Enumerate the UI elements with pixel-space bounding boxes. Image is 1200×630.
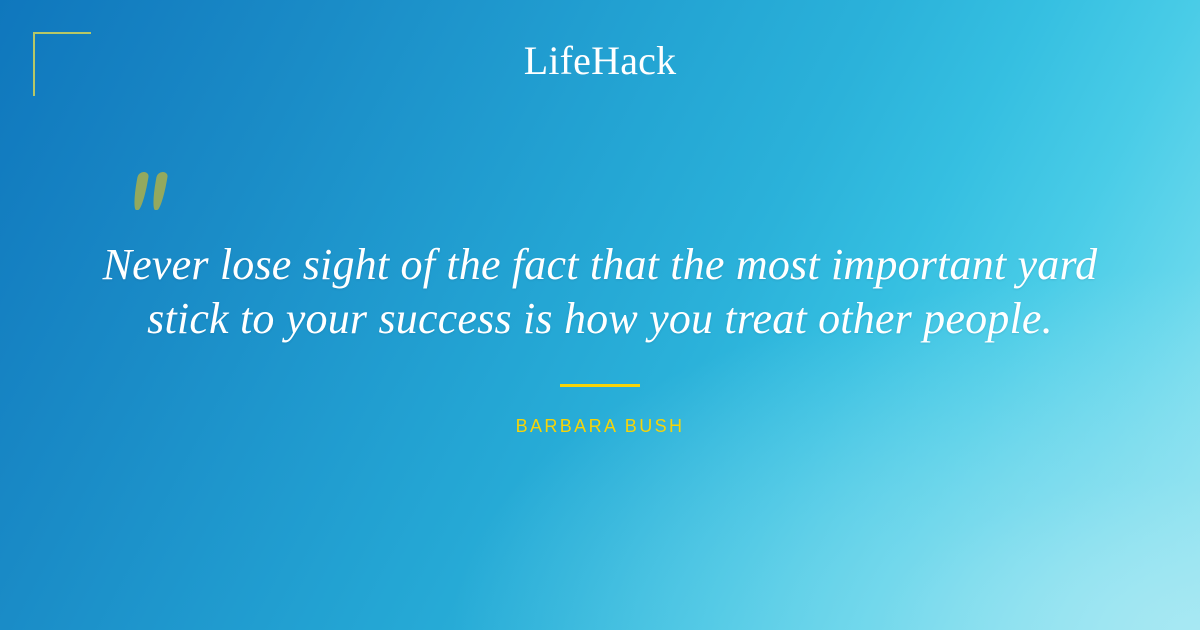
double-quote-mark-icon bbox=[133, 172, 177, 220]
lifehack-logo: LifeHack bbox=[0, 38, 1200, 84]
quote-line-2: stick to your success is how you treat o… bbox=[100, 292, 1100, 346]
corner-bracket-top-line bbox=[33, 32, 91, 34]
quote-mark-stroke-left bbox=[132, 172, 150, 210]
quote-author: BARBARA BUSH bbox=[0, 414, 1200, 438]
quote-card: LifeHack Never lose sight of the fact th… bbox=[0, 0, 1200, 630]
quote-mark-stroke-right bbox=[151, 172, 169, 210]
divider-rule bbox=[560, 384, 640, 387]
quote-text: Never lose sight of the fact that the mo… bbox=[100, 238, 1100, 346]
quote-line-1: Never lose sight of the fact that the mo… bbox=[100, 238, 1100, 292]
